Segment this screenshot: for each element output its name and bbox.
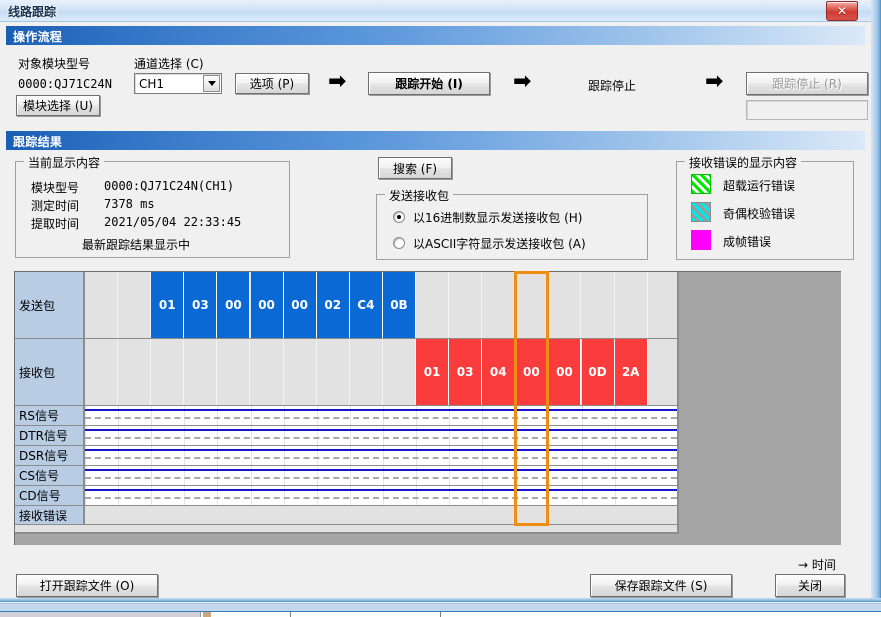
module-select-button[interactable]: 模块选择 (U) bbox=[16, 95, 100, 116]
radio-ascii-display-label: 以ASCII字符显示发送接收包 (A) bbox=[413, 235, 586, 252]
recv-packet-row-label: 接收包 bbox=[15, 339, 85, 406]
grid-column-separator bbox=[85, 506, 86, 524]
packet-empty-cell[interactable] bbox=[217, 339, 250, 405]
open-trace-file-button[interactable]: 打开跟踪文件 (O) bbox=[16, 574, 158, 597]
packet-byte-cell[interactable]: 02 bbox=[317, 272, 350, 338]
signal-high-line bbox=[85, 409, 677, 411]
packet-empty-cell[interactable] bbox=[515, 272, 548, 338]
signal-high-line bbox=[85, 449, 677, 451]
error-legend-group: 接收错误的显示内容 超载运行错误 奇偶校验错误 成帧错误 bbox=[676, 161, 854, 260]
packet-byte-cell[interactable]: 00 bbox=[515, 339, 548, 405]
packet-empty-cell[interactable] bbox=[184, 339, 217, 405]
cd-signal-row[interactable] bbox=[85, 486, 677, 506]
send-packet-row-label-text: 发送包 bbox=[19, 297, 55, 314]
cd-signal-row-label-text: CD信号 bbox=[19, 487, 61, 504]
packet-byte-cell[interactable]: 01 bbox=[416, 339, 449, 405]
signal-low-line bbox=[85, 497, 677, 499]
recv-error-row[interactable] bbox=[85, 506, 677, 525]
grid-column-separator bbox=[416, 506, 417, 524]
packet-byte-cell[interactable]: 00 bbox=[548, 339, 581, 405]
signal-low-line bbox=[85, 417, 677, 419]
close-icon-glyph: ✕ bbox=[827, 2, 857, 20]
packet-empty-cell[interactable] bbox=[85, 272, 118, 338]
signal-low-line bbox=[85, 457, 677, 459]
dtr-signal-row-label: DTR信号 bbox=[15, 426, 85, 446]
grid-column-separator bbox=[615, 506, 616, 524]
section-header-result-label: 跟踪结果 bbox=[13, 133, 62, 150]
packet-empty-cell[interactable] bbox=[416, 272, 449, 338]
error-legend-group-title: 接收错误的显示内容 bbox=[685, 154, 801, 171]
grid-column-separator bbox=[482, 506, 483, 524]
channel-select-label: 通道选择 (C) bbox=[134, 55, 204, 72]
rs-signal-row[interactable] bbox=[85, 406, 677, 426]
send-packet-row[interactable]: 010300000002C40B bbox=[85, 272, 677, 339]
recv-error-row-label-text: 接收错误 bbox=[19, 507, 67, 524]
window-edge-right bbox=[871, 0, 881, 602]
packet-empty-cell[interactable] bbox=[350, 339, 383, 405]
channel-select-value: CH1 bbox=[139, 77, 164, 91]
section-header-result: 跟踪结果 bbox=[6, 131, 865, 150]
packet-empty-cell[interactable] bbox=[317, 339, 350, 405]
overrun-error-label: 超载运行错误 bbox=[723, 177, 795, 194]
packet-empty-cell[interactable] bbox=[482, 272, 515, 338]
packet-byte-cell[interactable]: 01 bbox=[151, 272, 184, 338]
packet-byte-cell[interactable]: 00 bbox=[284, 272, 317, 338]
packet-byte-cell[interactable]: 2A bbox=[615, 339, 648, 405]
packet-byte-cell[interactable]: 0D bbox=[582, 339, 615, 405]
packet-byte-cell[interactable]: C4 bbox=[350, 272, 383, 338]
cs-signal-row-label-text: CS信号 bbox=[19, 467, 59, 484]
current-display-group-title: 当前显示内容 bbox=[24, 154, 104, 171]
cd-signal-row-label: CD信号 bbox=[15, 486, 85, 506]
radio-ascii-display[interactable] bbox=[393, 237, 405, 249]
cs-signal-row[interactable] bbox=[85, 466, 677, 486]
packet-empty-cell[interactable] bbox=[151, 339, 184, 405]
dialog-window: 线路跟踪 ✕ 操作流程 对象模块型号 0000:QJ71C24N 模块选择 (U… bbox=[0, 0, 881, 602]
packet-empty-cell[interactable] bbox=[582, 272, 615, 338]
flow-arrow-1-icon: ➡ bbox=[328, 71, 346, 93]
radio-hex-display[interactable] bbox=[393, 211, 405, 223]
chevron-down-icon-glyph bbox=[208, 81, 216, 86]
trace-stop-button[interactable]: 跟踪停止 (R) bbox=[746, 72, 868, 95]
packet-empty-cell[interactable] bbox=[118, 272, 151, 338]
section-header-flow: 操作流程 bbox=[6, 26, 865, 45]
signal-high-line bbox=[85, 489, 677, 491]
grid-column-separator bbox=[317, 506, 318, 524]
frame-error-label: 成帧错误 bbox=[723, 233, 771, 250]
grid-column-separator bbox=[383, 506, 384, 524]
grid-column-separator bbox=[217, 506, 218, 524]
background-table-tick-1 bbox=[290, 612, 291, 617]
dsr-signal-row-label: DSR信号 bbox=[15, 446, 85, 466]
extract-time-label: 提取时间 bbox=[31, 215, 79, 232]
packet-empty-cell[interactable] bbox=[251, 339, 284, 405]
packet-byte-cell[interactable]: 00 bbox=[251, 272, 284, 338]
grid-column-separator bbox=[251, 506, 252, 524]
current-module-type-label: 模块型号 bbox=[31, 179, 79, 196]
packet-byte-cell[interactable]: 04 bbox=[482, 339, 515, 405]
parity-error-label: 奇偶校验错误 bbox=[723, 205, 795, 222]
packet-empty-cell[interactable] bbox=[548, 272, 581, 338]
packet-empty-cell[interactable] bbox=[85, 339, 118, 405]
recv-packet-row[interactable]: 01030400000D2A bbox=[85, 339, 677, 406]
grid-column-separator bbox=[151, 506, 152, 524]
grid-column-separator bbox=[184, 506, 185, 524]
line-trace-window: 线路跟踪 ✕ 操作流程 对象模块型号 0000:QJ71C24N 模块选择 (U… bbox=[0, 0, 881, 617]
signal-high-line bbox=[85, 429, 677, 431]
trace-stop-text: 跟踪停止 bbox=[588, 77, 636, 94]
radio-hex-display-label: 以16进制数显示发送接收包 (H) bbox=[413, 209, 582, 226]
current-display-group: 当前显示内容 模块型号 0000:QJ71C24N(CH1) 测定时间 7378… bbox=[15, 161, 290, 258]
frame-swatch-icon bbox=[691, 230, 711, 250]
packet-display-group-title: 发送接收包 bbox=[385, 187, 453, 204]
trace-status-field bbox=[746, 100, 868, 120]
packet-byte-cell[interactable]: 03 bbox=[449, 339, 482, 405]
client-area: 操作流程 对象模块型号 0000:QJ71C24N 模块选择 (U) 通道选择 … bbox=[0, 22, 871, 598]
measure-time-label: 测定时间 bbox=[31, 197, 79, 214]
grid-column-separator bbox=[548, 506, 549, 524]
packet-byte-cell[interactable]: 00 bbox=[217, 272, 250, 338]
overrun-swatch-icon bbox=[691, 174, 711, 194]
window-edge-bottom bbox=[0, 598, 881, 602]
trace-grid-inner: 发送包010300000002C40B接收包01030400000D2ARS信号… bbox=[15, 272, 679, 534]
close-icon[interactable]: ✕ bbox=[826, 1, 858, 21]
dtr-signal-row[interactable] bbox=[85, 426, 677, 446]
option-button[interactable]: 选项 (P) bbox=[235, 73, 309, 94]
flow-arrow-2-icon: ➡ bbox=[513, 71, 531, 93]
packet-empty-cell[interactable] bbox=[615, 272, 648, 338]
packet-empty-cell[interactable] bbox=[449, 272, 482, 338]
packet-empty-cell[interactable] bbox=[118, 339, 151, 405]
trace-start-button[interactable]: 跟踪开始 (I) bbox=[368, 72, 490, 95]
grid-column-separator bbox=[118, 506, 119, 524]
signal-high-line bbox=[85, 469, 677, 471]
trace-grid[interactable]: 发送包010300000002C40B接收包01030400000D2ARS信号… bbox=[14, 271, 841, 545]
module-type-label: 对象模块型号 bbox=[18, 55, 90, 72]
packet-empty-cell[interactable] bbox=[284, 339, 317, 405]
dtr-signal-row-label-text: DTR信号 bbox=[19, 427, 68, 444]
packet-display-group: 发送接收包 以16进制数显示发送接收包 (H) 以ASCII字符显示发送接收包 … bbox=[376, 194, 648, 260]
save-trace-file-button[interactable]: 保存跟踪文件 (S) bbox=[590, 574, 732, 597]
send-packet-row-label: 发送包 bbox=[15, 272, 85, 339]
section-header-flow-label: 操作流程 bbox=[13, 28, 62, 45]
window-title: 线路跟踪 bbox=[8, 3, 56, 20]
flow-arrow-3-icon: ➡ bbox=[705, 71, 723, 93]
dsr-signal-row-label-text: DSR信号 bbox=[19, 447, 68, 464]
background-table-tick-2 bbox=[440, 612, 441, 617]
recv-packet-row-label-text: 接收包 bbox=[19, 364, 55, 381]
channel-select-combo[interactable]: CH1 bbox=[134, 73, 222, 94]
packet-byte-cell[interactable]: 0B bbox=[383, 272, 416, 338]
title-bar[interactable]: 线路跟踪 ✕ bbox=[0, 0, 881, 22]
chevron-down-icon[interactable] bbox=[203, 75, 220, 92]
grid-column-separator bbox=[582, 506, 583, 524]
close-dialog-button[interactable]: 关闭 bbox=[775, 574, 845, 597]
time-axis-label: → 时间 bbox=[798, 556, 836, 573]
background-table-cell-a bbox=[0, 612, 201, 617]
module-type-value: 0000:QJ71C24N bbox=[18, 77, 112, 91]
grid-column-separator bbox=[350, 506, 351, 524]
rs-signal-row-label-text: RS信号 bbox=[19, 407, 59, 424]
search-button[interactable]: 搜索 (F) bbox=[378, 157, 452, 179]
cs-signal-row-label: CS信号 bbox=[15, 466, 85, 486]
packet-empty-cell[interactable] bbox=[383, 339, 416, 405]
latest-result-note: 最新跟踪结果显示中 bbox=[82, 236, 190, 253]
signal-low-line bbox=[85, 437, 677, 439]
grid-column-separator bbox=[284, 506, 285, 524]
signal-low-line bbox=[85, 477, 677, 479]
recv-error-row-label: 接收错误 bbox=[15, 506, 85, 525]
grid-column-separator bbox=[515, 506, 516, 524]
extract-time-value: 2021/05/04 22:33:45 bbox=[104, 215, 241, 229]
packet-byte-cell[interactable]: 03 bbox=[184, 272, 217, 338]
current-module-type-value: 0000:QJ71C24N(CH1) bbox=[104, 179, 234, 193]
rs-signal-row-label: RS信号 bbox=[15, 406, 85, 426]
background-table-cell-b bbox=[203, 612, 211, 617]
grid-column-separator bbox=[449, 506, 450, 524]
dsr-signal-row[interactable] bbox=[85, 446, 677, 466]
parity-swatch-icon bbox=[691, 202, 711, 222]
measure-time-value: 7378 ms bbox=[104, 197, 155, 211]
